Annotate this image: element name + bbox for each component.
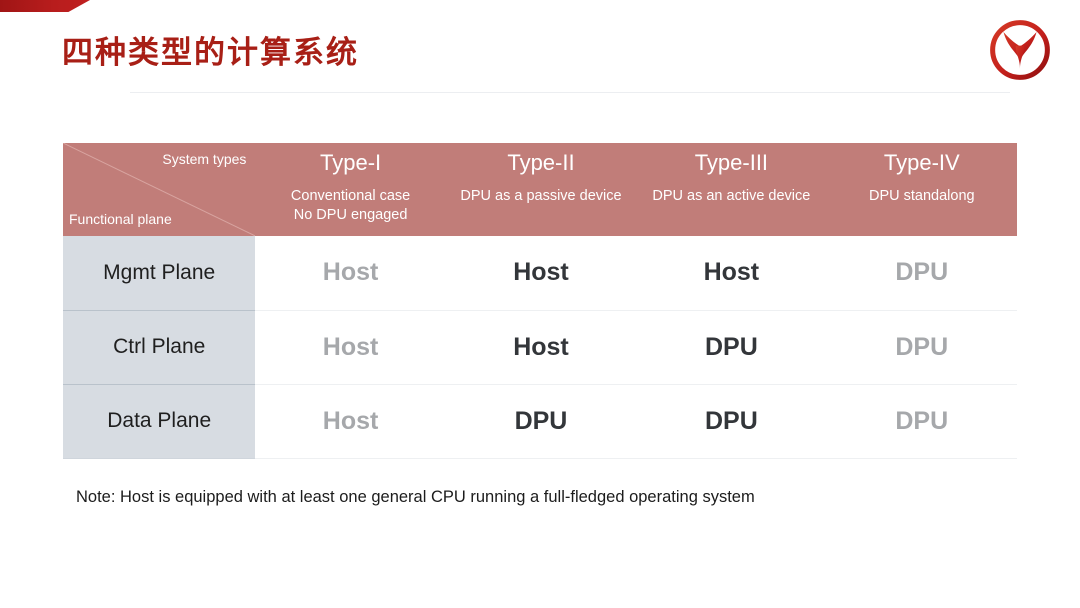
column-title-type-2: Type-II [507, 149, 574, 177]
column-desc-type-2: DPU as a passive device [454, 187, 627, 207]
table-row: Data Plane Host DPU DPU DPU [63, 384, 1017, 458]
cell-mgmt-type-4: DPU [827, 236, 1017, 310]
corner-banner-decoration [0, 0, 90, 12]
cell-mgmt-type-2: Host [446, 236, 636, 310]
system-types-table: System types Functional plane Type-I Con… [63, 143, 1017, 459]
column-header-type-2: Type-II DPU as a passive device [446, 143, 636, 236]
column-desc-type-4: DPU standalong [863, 187, 981, 207]
company-logo-icon [984, 14, 1056, 86]
column-header-type-3: Type-III DPU as an active device [636, 143, 826, 236]
cell-data-type-2: DPU [446, 384, 636, 458]
column-header-type-1: Type-I Conventional case No DPU engaged [255, 143, 445, 236]
column-desc-type-3: DPU as an active device [646, 187, 816, 207]
cell-mgmt-type-3: Host [636, 236, 826, 310]
column-header-type-4: Type-IV DPU standalong [827, 143, 1017, 236]
column-title-type-3: Type-III [695, 149, 768, 177]
corner-label-system-types: System types [162, 151, 246, 167]
cell-ctrl-type-2: Host [446, 310, 636, 384]
column-desc-type-1: Conventional case No DPU engaged [285, 187, 416, 226]
cell-data-type-4: DPU [827, 384, 1017, 458]
table-row: Ctrl Plane Host Host DPU DPU [63, 310, 1017, 384]
table-row: Mgmt Plane Host Host Host DPU [63, 236, 1017, 310]
cell-mgmt-type-1: Host [255, 236, 445, 310]
cell-data-type-3: DPU [636, 384, 826, 458]
corner-label-functional-plane: Functional plane [69, 211, 172, 227]
cell-data-type-1: Host [255, 384, 445, 458]
column-title-type-4: Type-IV [884, 149, 960, 177]
cell-ctrl-type-4: DPU [827, 310, 1017, 384]
table-note: Note: Host is equipped with at least one… [76, 488, 755, 507]
table-body: Mgmt Plane Host Host Host DPU Ctrl Plane… [63, 236, 1017, 458]
corner-header-cell: System types Functional plane [63, 143, 255, 236]
row-label-mgmt-plane: Mgmt Plane [63, 236, 255, 310]
table-header: System types Functional plane Type-I Con… [63, 143, 1017, 236]
row-label-ctrl-plane: Ctrl Plane [63, 310, 255, 384]
column-title-type-1: Type-I [320, 149, 381, 177]
page-title: 四种类型的计算系统 [62, 34, 359, 71]
cell-ctrl-type-3: DPU [636, 310, 826, 384]
cell-ctrl-type-1: Host [255, 310, 445, 384]
title-divider [130, 92, 1010, 93]
table-header-row: System types Functional plane Type-I Con… [63, 143, 1017, 236]
row-label-data-plane: Data Plane [63, 384, 255, 458]
